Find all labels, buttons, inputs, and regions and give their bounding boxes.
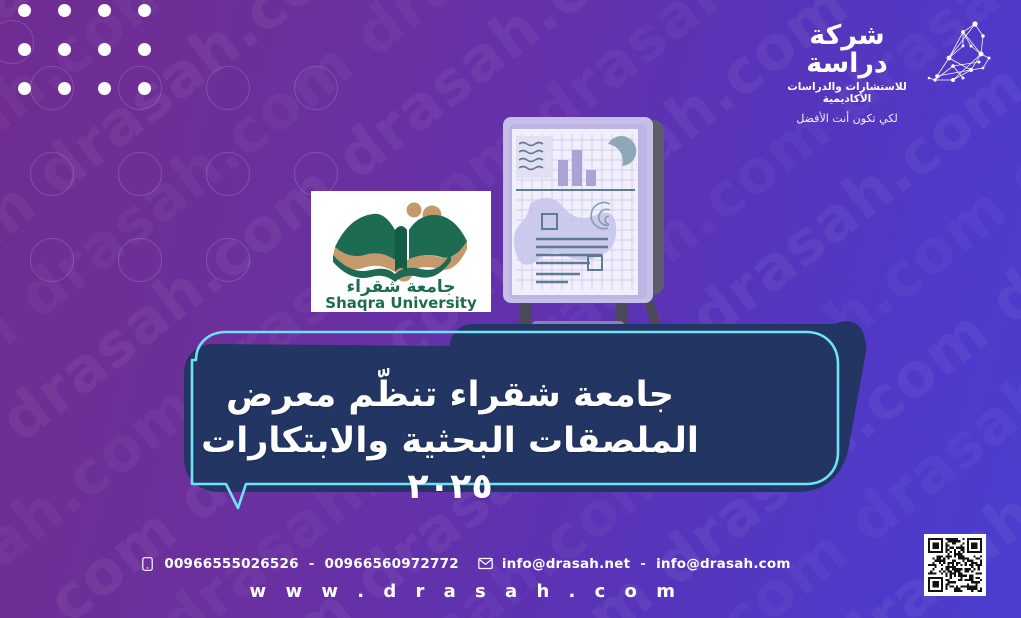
website-url[interactable]: w w w . d r a s a h . c o m [0, 581, 1021, 602]
watermark-text: drasah.com drasah.com drasah.com drasah.… [0, 0, 539, 65]
separator-1: - [309, 556, 315, 572]
open-book-icon: جامعة شقراء Shaqra University [311, 191, 491, 312]
outline-circle-icon [118, 66, 162, 110]
outline-circle-icon [294, 152, 338, 196]
grid-dot [58, 82, 71, 95]
grid-dot [18, 4, 31, 17]
phone-number-1[interactable]: 00966555026526 [164, 556, 298, 572]
outline-circle-icon [118, 238, 162, 282]
outline-circle-icon [118, 152, 162, 196]
grid-dot [18, 43, 31, 56]
email-1[interactable]: info@drasah.net [502, 556, 630, 572]
grid-dot [98, 82, 111, 95]
promo-poster: drasah.com drasah.com drasah.com drasah.… [0, 0, 1021, 618]
outline-circle-icon [30, 152, 74, 196]
outline-circle-icon [206, 238, 250, 282]
outline-circle-icon [30, 66, 74, 110]
qr-code-icon[interactable] [924, 534, 986, 596]
dot-grid-icon [18, 4, 168, 94]
mobile-phone-icon [140, 555, 155, 572]
outline-circle-icon [294, 66, 338, 110]
grid-dot [138, 82, 151, 95]
logo-tagline: لكي تكون أنت الأفضل [777, 112, 917, 125]
grid-dot [98, 4, 111, 17]
company-logo: شركة دراسة للاستشارات والدراسات الأكاديم… [777, 22, 917, 125]
envelope-icon [478, 555, 493, 572]
grid-dot [138, 43, 151, 56]
outline-circle-icon [30, 238, 74, 282]
email-2[interactable]: info@drasah.com [656, 556, 791, 572]
constellation-wing-icon [923, 14, 1009, 96]
university-name-en: Shaqra University [325, 294, 477, 312]
outline-circle-icon [206, 152, 250, 196]
grid-dot [18, 82, 31, 95]
university-logo-card: جامعة شقراء Shaqra University [311, 191, 491, 312]
grid-dot [138, 4, 151, 17]
separator-2: - [640, 556, 646, 572]
outline-circle-icon [206, 66, 250, 110]
grid-dot [58, 43, 71, 56]
grid-dot [58, 4, 71, 17]
outline-circle-icon [0, 20, 34, 64]
headline-line-2: الملصقات البحثية والابتكارات ٢٠٢٥ [170, 418, 730, 510]
phone-number-2[interactable]: 00966560972772 [325, 556, 459, 572]
logo-title: شركة دراسة [777, 22, 917, 79]
page-title: جامعة شقراء تنظّم معرض الملصقات البحثية … [170, 372, 730, 511]
headline-line-1: جامعة شقراء تنظّم معرض [170, 372, 730, 418]
grid-dot [98, 43, 111, 56]
contact-row: 00966555026526 - 00966560972772 info@dra… [0, 555, 1021, 572]
logo-subtitle: للاستشارات والدراسات الأكاديمية [777, 81, 917, 106]
footer: 00966555026526 - 00966560972772 info@dra… [0, 555, 1021, 602]
